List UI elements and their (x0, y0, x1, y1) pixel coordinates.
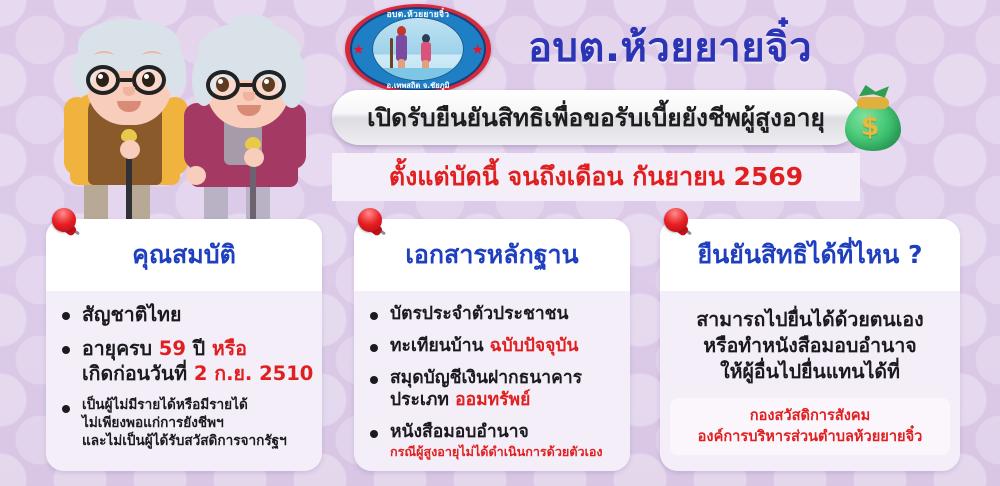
document-1-text: บัตรประจำตัวประชาชน (390, 304, 569, 324)
qualification-1-text: สัญชาติไทย (82, 303, 181, 326)
card-qualifications-header: คุณสมบัติ (46, 219, 322, 291)
document-2-text: ทะเทียนบ้าน (390, 336, 490, 356)
qualification-3-line1: เป็นผู้ไม่มีรายได้หรือมีรายได้ (82, 396, 308, 414)
card-qualifications-title: คุณสมบัติ (132, 235, 236, 275)
pushpin-icon (658, 206, 698, 246)
office-organization: องค์การบริหารส่วนตำบลห้วยยายจิ๋ว (674, 427, 946, 447)
banner-title-text: เปิดรับยืนยันสิทธิเพื่อขอรับเบี้ยยังชีพผ… (367, 98, 825, 137)
date-banner: ตั้งแต่บัดนี้ จนถึงเดือน กันยายน 2569 (332, 153, 860, 201)
municipal-seal-icon: อบต.ห้วยยายจิ๋ว อ.เทพสถิต จ.ชัยภูมิ (345, 4, 491, 94)
document-3-line1: สมุดบัญชีเงินฝากธนาคาร (390, 367, 616, 390)
pushpin-icon (352, 206, 392, 246)
qualification-3-line2: ไม่เพียงพอแก่การยังชีพฯ (82, 414, 308, 432)
elderly-woman-figure (172, 16, 322, 221)
card-where-to-apply-body: สามารถไปยื่นได้ด้วยตนเอง หรือทำหนังสือมอ… (660, 291, 960, 471)
dollar-symbol: $ (841, 111, 899, 142)
list-item: หนังสือมอบอำนาจ กรณีผู้สูงอายุไม่ได้ดำเน… (368, 421, 616, 460)
card-documents: เอกสารหลักฐาน บัตรประจำตัวประชาชน ทะเทีย… (354, 219, 630, 471)
qualification-2-line1-a: อายุครบ (82, 337, 159, 360)
apply-line-1: สามารถไปยื่นได้ด้วยตนเอง (696, 308, 923, 331)
qualification-2-line1-b: ปี (186, 337, 212, 360)
card-where-to-apply: ยืนยันสิทธิได้ที่ไหน ? สามารถไปยื่นได้ด้… (660, 219, 960, 471)
money-bag-icon: $ (841, 85, 905, 151)
list-item: อายุครบ 59 ปี หรือ เกิดก่อนวันที่ 2 ก.ย.… (60, 337, 308, 387)
pushpin-icon (46, 206, 86, 246)
qualification-3-line3: และไม่เป็นผู้ได้รับสวัสดิการจากรัฐฯ (82, 432, 308, 450)
card-qualifications: คุณสมบัติ สัญชาติไทย อายุครบ 59 ปี หรือ … (46, 219, 322, 471)
document-3-line2: ประเภท (390, 390, 455, 410)
poster-canvas: อบต.ห้วยยายจิ๋ว อ.เทพสถิต จ.ชัยภูมิ อบต.… (0, 0, 1000, 486)
apply-paragraph: สามารถไปยื่นได้ด้วยตนเอง หรือทำหนังสือมอ… (674, 307, 946, 385)
elderly-couple-illustration (44, 6, 324, 221)
card-where-to-apply-header: ยืนยันสิทธิได้ที่ไหน ? (660, 219, 960, 291)
qualification-2-age: 59 (159, 337, 186, 360)
list-item: บัตรประจำตัวประชาชน (368, 303, 616, 326)
qualification-2-or: หรือ (212, 337, 247, 360)
card-where-to-apply-title: ยืนยันสิทธิได้ที่ไหน ? (697, 235, 922, 275)
card-documents-title: เอกสารหลักฐาน (405, 235, 578, 275)
apply-line-3: ให้ผู้อื่นไปยื่นแทนได้ที่ (720, 360, 900, 383)
card-documents-header: เอกสารหลักฐาน (354, 219, 630, 291)
qualification-2-date: 2 ก.ย. 2510 (194, 362, 313, 385)
list-item: ทะเทียนบ้าน ฉบับปัจจุบัน (368, 335, 616, 358)
qualification-list: สัญชาติไทย อายุครบ 59 ปี หรือ เกิดก่อนวั… (60, 303, 308, 450)
card-qualifications-body: สัญชาติไทย อายุครบ 59 ปี หรือ เกิดก่อนวั… (46, 291, 322, 471)
apply-office-box: กองสวัสดิการสังคม องค์การบริหารส่วนตำบลห… (670, 398, 950, 454)
list-item: สัญชาติไทย (60, 303, 308, 328)
date-banner-text: ตั้งแต่บัดนี้ จนถึงเดือน กันยายน 2569 (389, 157, 803, 197)
list-item: เป็นผู้ไม่มีรายได้หรือมีรายได้ ไม่เพียงพ… (60, 396, 308, 451)
list-item: สมุดบัญชีเงินฝากธนาคาร ประเภท ออมทรัพย์ (368, 367, 616, 413)
document-4-line1: หนังสือมอบอำนาจ (390, 421, 616, 444)
card-documents-body: บัตรประจำตัวประชาชน ทะเทียนบ้าน ฉบับปัจจ… (354, 291, 630, 471)
documents-list: บัตรประจำตัวประชาชน ทะเทียนบ้าน ฉบับปัจจ… (368, 303, 616, 460)
document-2-highlight: ฉบับปัจจุบัน (490, 336, 579, 356)
document-3-highlight: ออมทรัพย์ (455, 390, 530, 410)
page-title: อบต.ห้วยยายจิ๋ว (505, 16, 835, 78)
office-division: กองสวัสดิการสังคม (674, 406, 946, 426)
banner-title: เปิดรับยืนยันสิทธิเพื่อขอรับเบี้ยยังชีพผ… (332, 90, 860, 145)
apply-line-2: หรือทำหนังสือมอบอำนาจ (703, 334, 916, 357)
qualification-2-line2-a: เกิดก่อนวันที่ (82, 362, 194, 385)
document-4-note: กรณีผู้สูงอายุไม่ได้ดำเนินการด้วยตัวเอง (390, 444, 616, 460)
